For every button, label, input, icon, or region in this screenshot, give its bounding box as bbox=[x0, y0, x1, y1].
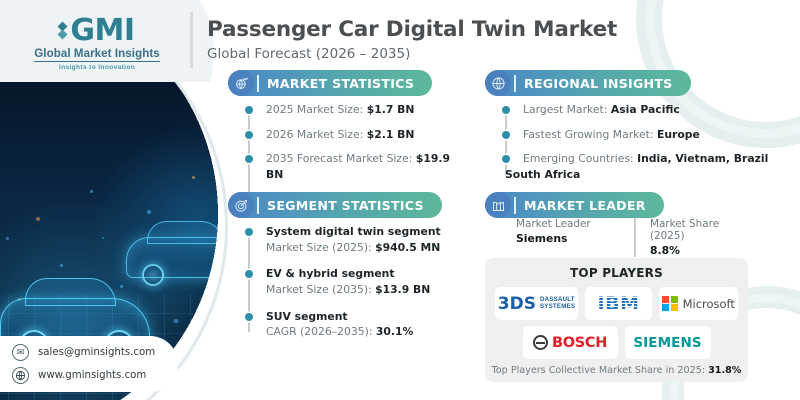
stat-label: 2035 Forecast Market Size: bbox=[266, 152, 412, 165]
list-item: 2025 Market Size: $1.7 BN bbox=[248, 102, 460, 118]
badge-divider bbox=[257, 197, 259, 214]
badge-market-statistics: MARKET STATISTICS bbox=[228, 70, 432, 96]
region-label: Fastest Growing Market: bbox=[523, 128, 654, 141]
contact-website-row[interactable]: www.gminsights.com bbox=[12, 367, 178, 384]
dassault-mark: 3DS bbox=[498, 294, 536, 314]
player-logo-siemens[interactable]: SIEMENS bbox=[625, 326, 711, 359]
top-players-row-1: 3DS DASSAULT SYSTEMES IBM Microsoft bbox=[495, 287, 738, 320]
top-players-panel: TOP PLAYERS 3DS DASSAULT SYSTEMES IBM bbox=[485, 258, 748, 382]
list-item: SUV segment CAGR (2026–2035): 30.1% bbox=[248, 309, 462, 340]
stat-value: $2.1 BN bbox=[367, 128, 415, 141]
market-leader-block: Market Leader Siemens Market Share (2025… bbox=[516, 218, 752, 257]
region-value-overflow: South Africa bbox=[505, 167, 785, 183]
region-value: Europe bbox=[657, 128, 700, 141]
badge-divider bbox=[257, 75, 259, 92]
top-players-title: TOP PLAYERS bbox=[495, 266, 738, 280]
player-logo-dassault[interactable]: 3DS DASSAULT SYSTEMES bbox=[495, 287, 578, 320]
share-label: Market Share (2025) bbox=[650, 218, 752, 242]
badge-divider bbox=[514, 197, 516, 214]
player-logo-microsoft[interactable]: Microsoft bbox=[659, 287, 738, 320]
footer-label: Top Players Collective Market Share in 2… bbox=[492, 365, 705, 376]
footer-value: 31.8% bbox=[708, 365, 741, 376]
list-item: Fastest Growing Market: Europe bbox=[505, 127, 785, 143]
contact-email-row[interactable]: ✉ sales@gminsights.com bbox=[12, 344, 178, 361]
badge-label: MARKET LEADER bbox=[524, 198, 664, 213]
siemens-mark: SIEMENS bbox=[633, 335, 701, 351]
segment-name: System digital twin segment bbox=[266, 224, 462, 240]
segment-label: CAGR (2026–2035): bbox=[266, 325, 372, 338]
microsoft-mark: Microsoft bbox=[683, 297, 735, 311]
contact-panel: ✉ sales@gminsights.com www.gminsights.co… bbox=[0, 336, 178, 392]
factory-chart-icon bbox=[485, 192, 511, 218]
list-item: System digital twin segment Market Size … bbox=[248, 224, 462, 255]
stat-label: 2025 Market Size: bbox=[266, 103, 363, 116]
contact-website: www.gminsights.com bbox=[38, 370, 146, 381]
leader-label: Market Leader bbox=[516, 218, 634, 230]
top-players-row-2: BOSCH SIEMENS bbox=[495, 326, 738, 359]
segment-value: 30.1% bbox=[376, 325, 413, 338]
badge-label: MARKET STATISTICS bbox=[267, 76, 432, 91]
target-chart-icon bbox=[228, 192, 254, 218]
logo-subtitle: Global Market Insights bbox=[34, 48, 160, 62]
stat-value: $1.7 BN bbox=[367, 103, 415, 116]
badge-label: SEGMENT STATISTICS bbox=[267, 198, 442, 213]
segment-statistics-list: System digital twin segment Market Size … bbox=[248, 224, 462, 340]
badge-regional-insights: REGIONAL INSIGHTS bbox=[485, 70, 691, 96]
list-item: 2026 Market Size: $2.1 BN bbox=[248, 127, 460, 143]
globe-chart-icon bbox=[228, 70, 254, 96]
envelope-icon: ✉ bbox=[12, 344, 29, 361]
badge-market-leader: MARKET LEADER bbox=[485, 192, 664, 218]
badge-label: REGIONAL INSIGHTS bbox=[524, 76, 691, 91]
page-title-block: Passenger Car Digital Twin Market Global… bbox=[190, 12, 617, 68]
list-item: Emerging Countries: India, Vietnam, Braz… bbox=[505, 151, 785, 182]
list-item: EV & hybrid segment Market Size (2035): … bbox=[248, 266, 462, 297]
badge-divider bbox=[514, 75, 516, 92]
market-share-column: Market Share (2025) 8.8% bbox=[634, 218, 752, 257]
region-value: India, Vietnam, Brazil bbox=[637, 152, 768, 165]
region-label: Emerging Countries: bbox=[523, 152, 634, 165]
globe-icon bbox=[12, 367, 29, 384]
ibm-mark: IBM bbox=[598, 293, 640, 315]
contact-email: sales@gminsights.com bbox=[38, 347, 155, 358]
segment-name: SUV segment bbox=[266, 309, 462, 325]
gmi-logo[interactable]: GMI Global Market Insights Insights to I… bbox=[8, 12, 186, 74]
bosch-emblem-icon bbox=[533, 335, 548, 350]
microsoft-squares-icon bbox=[662, 296, 678, 312]
share-value: 8.8% bbox=[650, 244, 752, 257]
leader-value: Siemens bbox=[516, 232, 634, 245]
player-logo-bosch[interactable]: BOSCH bbox=[523, 326, 618, 359]
bosch-mark: BOSCH bbox=[552, 335, 607, 351]
dassault-line2: SYSTEMES bbox=[540, 304, 575, 311]
segment-name: EV & hybrid segment bbox=[266, 266, 462, 282]
diamond-cluster-icon bbox=[59, 23, 66, 38]
page-title: Passenger Car Digital Twin Market bbox=[207, 18, 617, 42]
segment-label: Market Size (2025): bbox=[266, 241, 372, 254]
page-subtitle: Global Forecast (2026 – 2035) bbox=[207, 46, 617, 62]
player-logo-ibm[interactable]: IBM bbox=[585, 287, 652, 320]
logo-text: GMI bbox=[70, 16, 134, 46]
region-value: Asia Pacific bbox=[611, 103, 680, 116]
infographic-page: GMI Global Market Insights Insights to I… bbox=[0, 0, 800, 400]
list-item: Largest Market: Asia Pacific bbox=[505, 102, 785, 118]
regional-insights-list: Largest Market: Asia Pacific Fastest Gro… bbox=[505, 102, 785, 183]
logo-tagline: Insights to Innovation bbox=[59, 64, 135, 71]
globe-icon bbox=[485, 70, 511, 96]
segment-label: Market Size (2035): bbox=[266, 283, 372, 296]
badge-segment-statistics: SEGMENT STATISTICS bbox=[228, 192, 442, 218]
segment-value: $13.9 BN bbox=[375, 283, 430, 296]
stat-label: 2026 Market Size: bbox=[266, 128, 363, 141]
list-item: 2035 Forecast Market Size: $19.9 BN bbox=[248, 151, 460, 182]
segment-value: $940.5 MN bbox=[375, 241, 440, 254]
logo-lockup: GMI bbox=[59, 16, 134, 46]
region-label: Largest Market: bbox=[523, 103, 607, 116]
market-leader-column: Market Leader Siemens bbox=[516, 218, 634, 245]
top-players-footer: Top Players Collective Market Share in 2… bbox=[485, 365, 748, 376]
